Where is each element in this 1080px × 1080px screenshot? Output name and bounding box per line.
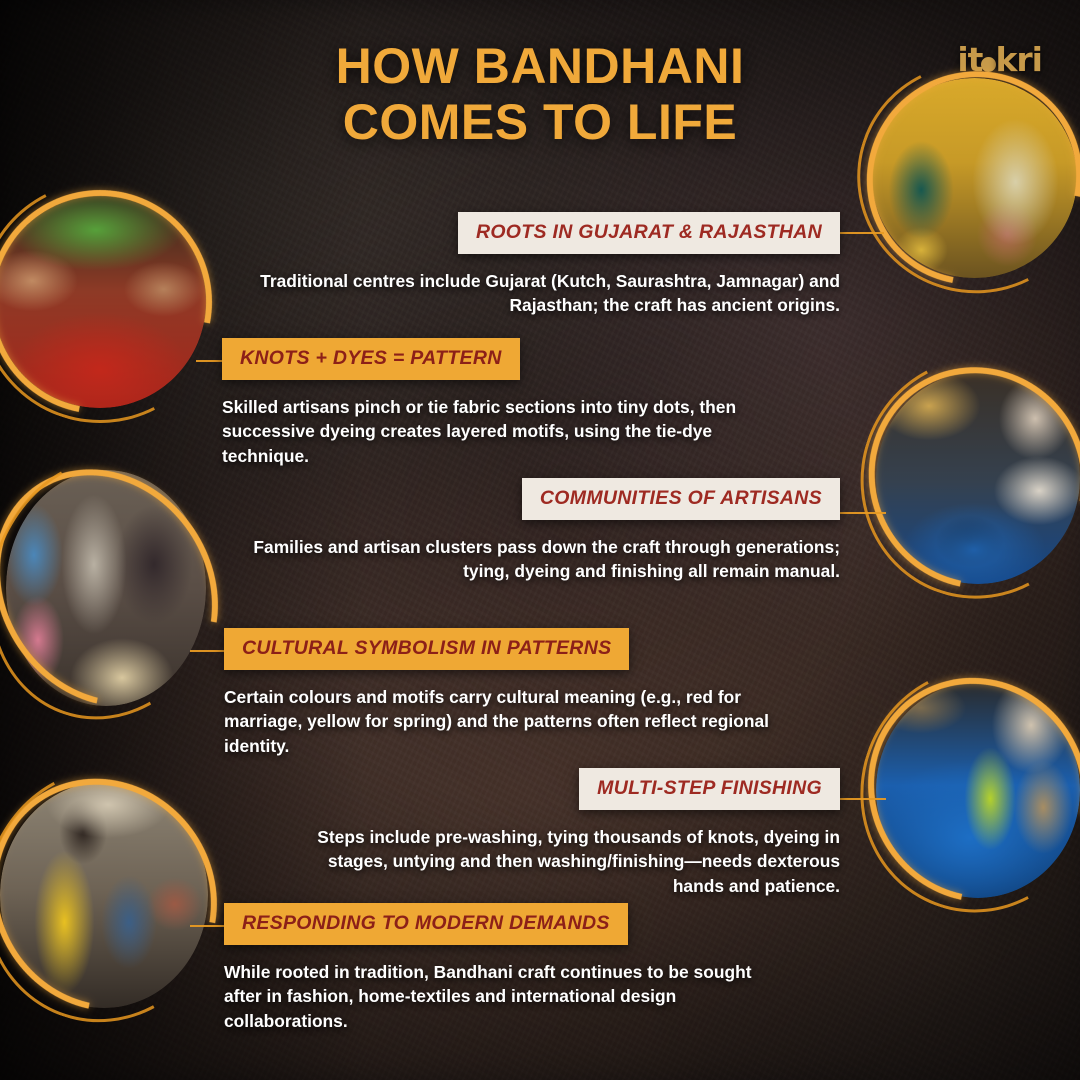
photo-dyer-tub-image [876, 372, 1080, 584]
section-symbolism-body: Certain colours and motifs carry cultura… [224, 685, 784, 758]
photo-artisan-women [6, 470, 206, 706]
section-modern-demands: RESPONDING TO MODERN DEMANDS While roote… [224, 903, 794, 1033]
photo-artisan-women-image [6, 470, 206, 706]
section-finishing-body: Steps include pre-washing, tying thousan… [280, 825, 840, 898]
section-communities-banner: COMMUNITIES OF ARTISANS [522, 478, 840, 520]
photo-dye-vat [876, 682, 1080, 898]
photo-women-tying-image [872, 78, 1077, 278]
logo-dot-icon [981, 57, 996, 72]
section-roots: ROOTS IN GUJARAT & RAJASTHAN Traditional… [240, 212, 840, 318]
connector-finishing [838, 798, 886, 800]
section-knots-dyes: KNOTS + DYES = PATTERN Skilled artisans … [222, 338, 767, 468]
connector-communities [838, 512, 886, 514]
section-finishing: MULTI-STEP FINISHING Steps include pre-w… [280, 768, 840, 898]
photo-hands-red-image [0, 196, 206, 408]
photo-dyer-tub [876, 372, 1080, 584]
photo-dye-vat-image [876, 682, 1080, 898]
section-communities: COMMUNITIES OF ARTISANS Families and art… [240, 478, 840, 584]
infographic-canvas: HOW BANDHANI COMES TO LIFE itkri ROOTS I… [0, 0, 1080, 1080]
photo-hands-red [0, 196, 206, 408]
section-roots-banner: ROOTS IN GUJARAT & RAJASTHAN [458, 212, 840, 254]
photo-yellow-dye-image [0, 782, 208, 1008]
section-knots-dyes-body: Skilled artisans pinch or tie fabric sec… [222, 395, 767, 468]
section-roots-body: Traditional centres include Gujarat (Kut… [240, 269, 840, 318]
brand-logo: itkri [957, 40, 1042, 79]
section-knots-dyes-banner: KNOTS + DYES = PATTERN [222, 338, 520, 380]
photo-yellow-dye [0, 782, 208, 1008]
section-modern-demands-banner: RESPONDING TO MODERN DEMANDS [224, 903, 628, 945]
photo-women-tying [872, 78, 1077, 278]
connector-roots [838, 232, 884, 234]
section-modern-demands-body: While rooted in tradition, Bandhani craf… [224, 960, 794, 1033]
section-finishing-banner: MULTI-STEP FINISHING [579, 768, 840, 810]
section-symbolism-banner: CULTURAL SYMBOLISM IN PATTERNS [224, 628, 629, 670]
section-communities-body: Families and artisan clusters pass down … [240, 535, 840, 584]
section-symbolism: CULTURAL SYMBOLISM IN PATTERNS Certain c… [224, 628, 784, 758]
